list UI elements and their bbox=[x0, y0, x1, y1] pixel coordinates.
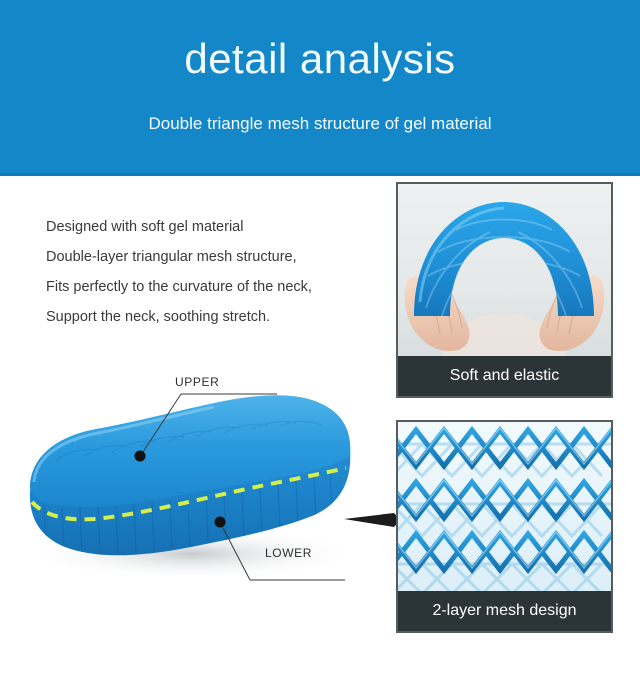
diagram-to-mesh-arrow bbox=[344, 508, 400, 532]
page-title: detail analysis bbox=[0, 36, 640, 82]
feature-list: Designed with soft gel material Double-l… bbox=[46, 212, 376, 332]
panel-two-layer-mesh: 2-layer mesh design bbox=[396, 420, 613, 633]
photo-hands-bending-gel-pillow bbox=[398, 184, 611, 360]
header-banner: detail analysis Double triangle mesh str… bbox=[0, 0, 640, 176]
panel-caption-two-layer-mesh: 2-layer mesh design bbox=[398, 591, 611, 631]
panel-caption-soft-and-elastic: Soft and elastic bbox=[398, 356, 611, 396]
callout-label-upper: UPPER bbox=[175, 375, 219, 389]
callout-label-lower: LOWER bbox=[265, 546, 312, 560]
feature-line: Designed with soft gel material bbox=[46, 212, 376, 242]
feature-line: Fits perfectly to the curvature of the n… bbox=[46, 272, 376, 302]
gel-pillow-diagram bbox=[0, 356, 395, 596]
photo-triangular-mesh-closeup bbox=[398, 422, 611, 595]
feature-line: Support the neck, soothing stretch. bbox=[46, 302, 376, 332]
feature-line: Double-layer triangular mesh structure, bbox=[46, 242, 376, 272]
panel-soft-and-elastic: Soft and elastic bbox=[396, 182, 613, 398]
pillow-body bbox=[30, 394, 350, 555]
page-subtitle: Double triangle mesh structure of gel ma… bbox=[0, 114, 640, 134]
upper-callout-dot bbox=[135, 451, 146, 462]
lower-callout-dot bbox=[215, 517, 226, 528]
